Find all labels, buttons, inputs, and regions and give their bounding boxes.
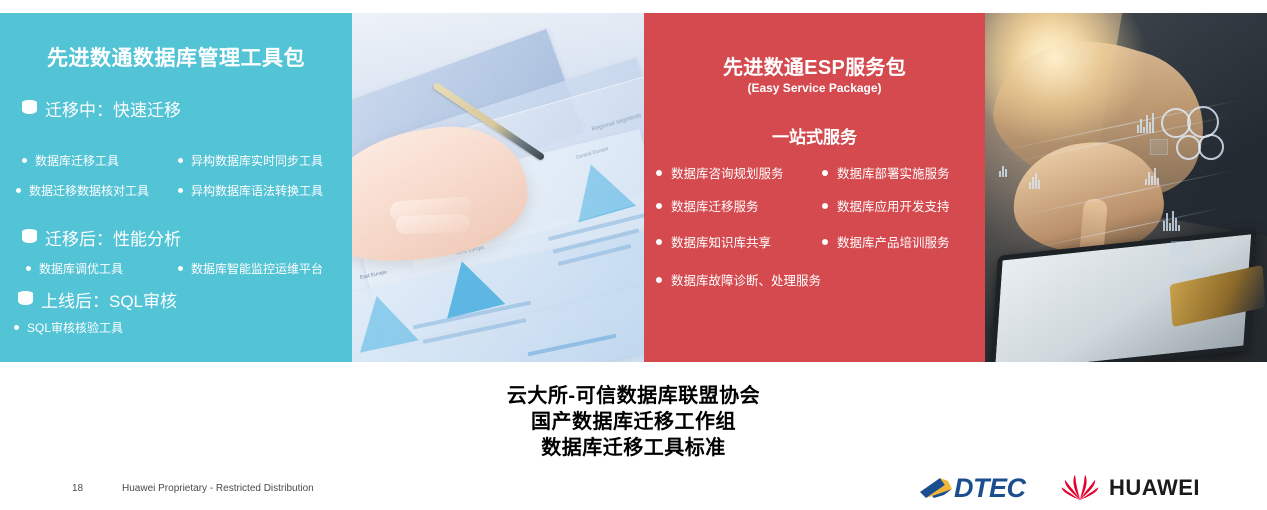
finger-shape: [396, 214, 471, 235]
right-panel-subtitle: (Easy Service Package): [644, 81, 985, 95]
bullet-icon: [178, 158, 183, 163]
list-item: 数据迁移数据核对工具: [16, 182, 149, 199]
list-item: 数据库智能监控运维平台: [178, 260, 323, 277]
caption-line-3: 数据库迁移工具标准: [0, 435, 1267, 461]
list-item-label: 数据库故障诊断、处理服务: [671, 270, 821, 289]
huawei-logo: HUAWEI: [1060, 471, 1200, 505]
huawei-flower-icon: [1060, 473, 1100, 503]
list-item: 数据库产品培训服务: [822, 232, 950, 251]
bullet-icon: [26, 266, 31, 271]
banner-strip: Regional segments Central Europe West Eu…: [0, 13, 1267, 362]
list-item: 数据库故障诊断、处理服务: [656, 270, 821, 289]
list-item: 数据库调优工具: [26, 260, 123, 277]
mini-bar-chart-icon: [999, 163, 1007, 177]
bullet-icon: [14, 325, 19, 330]
caption-block: 云大所-可信数据库联盟协会 国产数据库迁移工作组 数据库迁移工具标准: [0, 383, 1267, 461]
bullet-icon: [22, 158, 27, 163]
list-item-label: 数据库应用开发支持: [837, 196, 950, 215]
list-item-label: 数据库部署实施服务: [837, 163, 950, 182]
list-item-label: 数据迁移数据核对工具: [29, 182, 149, 199]
bullet-icon: [656, 203, 662, 209]
caption-line-2: 国产数据库迁移工作组: [0, 409, 1267, 435]
list-item: 数据库部署实施服务: [822, 163, 950, 182]
section-heading-label: 上线后：SQL审核: [41, 287, 177, 312]
mini-bar-chart-icon: [1137, 111, 1154, 133]
section-heading-label: 迁移后：性能分析: [45, 225, 181, 250]
bullet-icon: [822, 203, 828, 209]
bullet-icon: [656, 239, 662, 245]
list-item-label: 数据库迁移服务: [671, 196, 759, 215]
data-ring-icon: [1198, 134, 1224, 160]
section-heading-migrating: 迁移中：快速迁移: [22, 96, 181, 121]
list-item: 数据库咨询规划服务: [656, 163, 784, 182]
bullet-icon: [178, 266, 183, 271]
dtec-wordmark: DTEC: [954, 475, 1026, 502]
section-heading-after-migration: 迁移后：性能分析: [22, 225, 181, 250]
slide-canvas: Regional segments Central Europe West Eu…: [0, 0, 1267, 510]
database-icon: [18, 291, 33, 309]
list-item: 异构数据库语法转换工具: [178, 182, 323, 199]
list-item-label: SQL审核核验工具: [27, 319, 123, 336]
mini-bar-chart-icon: [1029, 171, 1040, 189]
page-number: 18: [72, 483, 83, 494]
dtec-logo: DTEC: [918, 472, 1043, 504]
bullet-icon: [178, 188, 183, 193]
list-item-label: 数据库知识库共享: [671, 232, 771, 251]
database-icon: [22, 229, 37, 247]
left-panel-title: 先进数通数据库管理工具包: [0, 42, 352, 72]
right-panel-esp: 先进数通ESP服务包 (Easy Service Package) 一站式服务 …: [644, 13, 985, 362]
list-item-label: 异构数据库实时同步工具: [191, 152, 323, 169]
list-item: SQL审核核验工具: [14, 319, 123, 336]
center-photo-charts: Regional segments Central Europe West Eu…: [352, 13, 644, 362]
list-item-label: 数据库产品培训服务: [837, 232, 950, 251]
list-item: 数据库迁移工具: [22, 152, 119, 169]
list-item: 数据库应用开发支持: [822, 196, 950, 215]
bullet-icon: [822, 239, 828, 245]
list-item-label: 数据库调优工具: [39, 260, 123, 277]
bullet-icon: [656, 277, 662, 283]
bullet-icon: [656, 170, 662, 176]
right-panel-title: 先进数通ESP服务包: [644, 51, 985, 80]
huawei-wordmark: HUAWEI: [1109, 477, 1200, 499]
list-item: 数据库知识库共享: [656, 232, 771, 251]
section-heading-after-golive: 上线后：SQL审核: [18, 287, 177, 312]
bullet-icon: [16, 188, 21, 193]
data-panel: [1150, 139, 1168, 155]
bullet-icon: [822, 170, 828, 176]
list-item-label: 数据库迁移工具: [35, 152, 119, 169]
mini-bar-chart-icon: [1145, 165, 1159, 185]
list-item: 数据库迁移服务: [656, 196, 759, 215]
section-heading-label: 迁移中：快速迁移: [45, 96, 181, 121]
data-panel: [1171, 241, 1193, 255]
right-panel-tagline: 一站式服务: [644, 123, 985, 148]
dtec-arrow-icon: [918, 476, 958, 500]
database-icon: [22, 100, 37, 118]
right-photo-tablet: [985, 13, 1267, 362]
list-item-label: 数据库咨询规划服务: [671, 163, 784, 182]
data-panel: [1181, 265, 1209, 277]
confidentiality-note: Huawei Proprietary - Restricted Distribu…: [122, 483, 314, 494]
list-item: 异构数据库实时同步工具: [178, 152, 323, 169]
left-panel-toolkit: 先进数通数据库管理工具包 迁移中：快速迁移 数据库迁移工具 异构数据库实时同步工…: [0, 13, 352, 362]
list-item-label: 异构数据库语法转换工具: [191, 182, 323, 199]
caption-line-1: 云大所-可信数据库联盟协会: [0, 383, 1267, 409]
list-item-label: 数据库智能监控运维平台: [191, 260, 323, 277]
